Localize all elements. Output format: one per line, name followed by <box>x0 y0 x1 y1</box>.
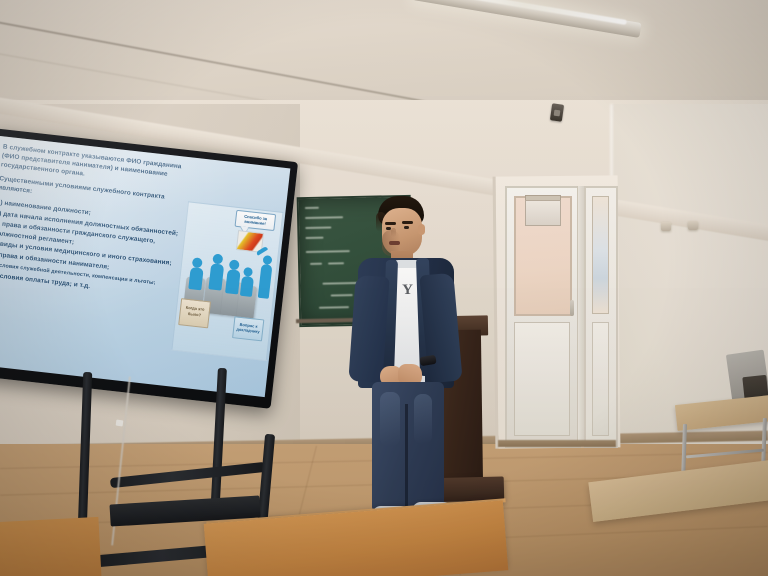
desk-bottom-left <box>0 517 101 576</box>
mouth <box>389 241 400 245</box>
cable-clip <box>116 420 124 427</box>
tv-screen[interactable]: В служебном контракте указываются ФИО гр… <box>0 136 290 397</box>
eyebrow <box>402 221 413 224</box>
eyebrow <box>385 222 396 225</box>
eye <box>404 226 409 229</box>
door-handle[interactable] <box>570 300 574 316</box>
nose <box>391 228 396 237</box>
ear <box>418 224 425 235</box>
slide-illustration: Спасибо за внимание! <box>171 201 283 361</box>
wall-hook-icon <box>661 222 671 231</box>
jeans-inseam <box>405 404 408 510</box>
door-threshold <box>498 440 616 447</box>
motion-sensor-lens <box>554 110 561 117</box>
wall-display[interactable]: В служебном контракте указываются ФИО гр… <box>0 128 298 409</box>
note-card-left: Когда это было? <box>178 298 211 328</box>
note-card-right: Вопрос к докладчику <box>232 316 264 341</box>
door-side-lower-panel <box>592 322 609 436</box>
slide-list: 1) наименование должности; 2) дата начал… <box>0 198 182 301</box>
door-lower-panel <box>514 322 570 436</box>
classroom-photo: В служебном контракте указываются ФИО гр… <box>0 0 768 576</box>
slide-text-block: В служебном контракте указываются ФИО гр… <box>0 142 188 302</box>
door-plaque <box>525 200 561 226</box>
wall-hook-icon <box>688 221 698 230</box>
door-side-glass-panel <box>592 196 609 314</box>
